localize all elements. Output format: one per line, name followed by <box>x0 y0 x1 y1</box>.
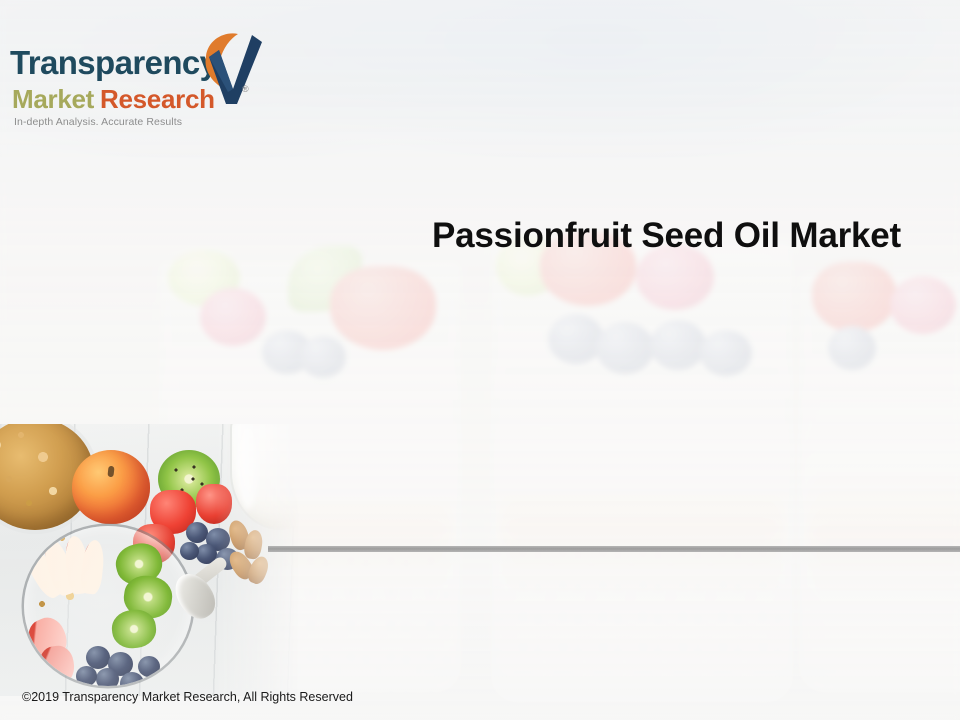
logo-word-research: Research <box>100 84 215 114</box>
logo-tagline: In-depth Analysis. Accurate Results <box>14 116 182 128</box>
registered-trademark-mark: ® <box>242 84 249 94</box>
inset-photo-granola-bowl <box>0 424 300 696</box>
blueberry <box>186 522 208 543</box>
slide-canvas: Transparency MarketResearch In-depth Ana… <box>0 0 960 720</box>
red-apple <box>72 450 150 524</box>
logo-wordmark-market-research: MarketResearch <box>12 84 215 115</box>
strawberry <box>196 484 232 524</box>
blueberry <box>76 666 97 686</box>
company-logo: Transparency MarketResearch In-depth Ana… <box>10 22 272 126</box>
blueberry <box>120 672 144 686</box>
logo-word-market: Market <box>12 84 94 114</box>
blueberry <box>96 668 119 686</box>
copyright-footer: ©2019 Transparency Market Research, All … <box>22 690 353 704</box>
checkmark-v-icon <box>202 30 264 106</box>
blueberry <box>180 542 199 560</box>
horizontal-divider <box>268 546 960 552</box>
blueberry <box>138 656 160 677</box>
page-title: Passionfruit Seed Oil Market <box>432 216 901 256</box>
logo-wordmark-transparency: Transparency <box>10 44 217 82</box>
glass-breakfast-bowl <box>24 526 192 686</box>
